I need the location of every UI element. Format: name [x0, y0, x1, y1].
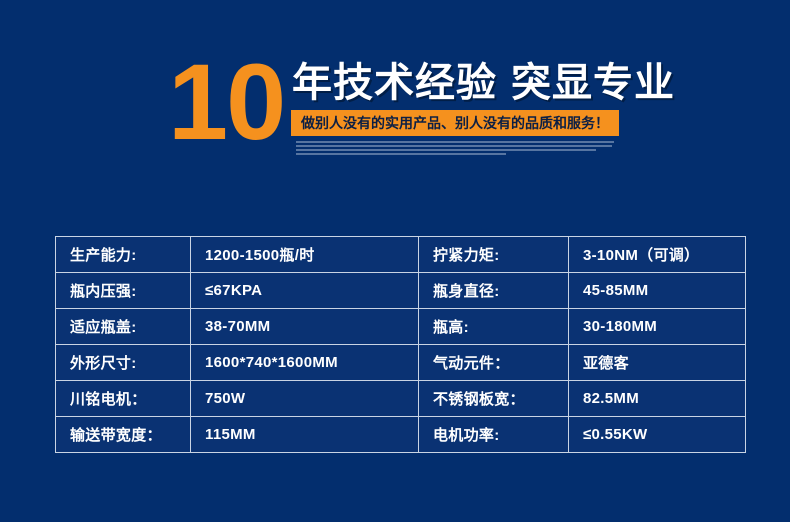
- promo-banner-page: 10 年技术经验突显专业 做别人没有的实用产品、别人没有的品质和服务！ 生产能力…: [0, 0, 790, 522]
- headline-part-2: 突显专业: [511, 61, 675, 105]
- spec-value: 38-70MM: [191, 309, 419, 345]
- spec-label: 气动元件：: [419, 345, 569, 381]
- spec-value: 82.5MM: [569, 381, 746, 417]
- spec-value: 亚德客: [569, 345, 746, 381]
- spec-value: 45-85MM: [569, 273, 746, 309]
- spec-label: 外形尺寸:: [56, 345, 191, 381]
- spec-value: 115MM: [191, 417, 419, 453]
- microtext-line: [296, 149, 596, 151]
- spec-label: 瓶内压强:: [56, 273, 191, 309]
- spec-value: ≤0.55KW: [569, 417, 746, 453]
- sub-banner: 做别人没有的实用产品、别人没有的品质和服务！: [291, 110, 619, 136]
- spec-value: 750W: [191, 381, 419, 417]
- spec-label: 输送带宽度：: [56, 417, 191, 453]
- headline: 年技术经验突显专业: [292, 58, 675, 108]
- specification-table: 生产能力: 1200-1500瓶/时 拧紧力矩: 3-10NM（可调） 瓶内压强…: [55, 236, 746, 453]
- table-row: 川铭电机： 750W 不锈钢板宽： 82.5MM: [56, 381, 746, 417]
- table-row: 生产能力: 1200-1500瓶/时 拧紧力矩: 3-10NM（可调）: [56, 237, 746, 273]
- spec-label: 不锈钢板宽：: [419, 381, 569, 417]
- table-row: 适应瓶盖: 38-70MM 瓶高: 30-180MM: [56, 309, 746, 345]
- spec-label: 瓶身直径:: [419, 273, 569, 309]
- microtext-line: [296, 145, 612, 147]
- spec-value: 3-10NM（可调）: [569, 237, 746, 273]
- spec-label: 拧紧力矩:: [419, 237, 569, 273]
- spec-label: 川铭电机：: [56, 381, 191, 417]
- spec-label: 电机功率:: [419, 417, 569, 453]
- spec-value: 1200-1500瓶/时: [191, 237, 419, 273]
- years-number: 10: [168, 48, 284, 156]
- header-section: 10 年技术经验突显专业 做别人没有的实用产品、别人没有的品质和服务！: [0, 0, 790, 190]
- spec-label: 生产能力:: [56, 237, 191, 273]
- table-row: 输送带宽度： 115MM 电机功率: ≤0.55KW: [56, 417, 746, 453]
- table-row: 外形尺寸: 1600*740*1600MM 气动元件： 亚德客: [56, 345, 746, 381]
- spec-table-body: 生产能力: 1200-1500瓶/时 拧紧力矩: 3-10NM（可调） 瓶内压强…: [56, 237, 746, 453]
- spec-value: 1600*740*1600MM: [191, 345, 419, 381]
- spec-label: 瓶高:: [419, 309, 569, 345]
- spec-value: 30-180MM: [569, 309, 746, 345]
- headline-part-1: 年技术经验: [292, 61, 497, 105]
- microtext-line: [296, 141, 614, 143]
- microtext-line: [296, 153, 506, 155]
- spec-value: ≤67KPA: [191, 273, 419, 309]
- decorative-microtext: [296, 141, 616, 157]
- sub-banner-text: 做别人没有的实用产品、别人没有的品质和服务！: [301, 113, 609, 133]
- table-row: 瓶内压强: ≤67KPA 瓶身直径: 45-85MM: [56, 273, 746, 309]
- spec-label: 适应瓶盖:: [56, 309, 191, 345]
